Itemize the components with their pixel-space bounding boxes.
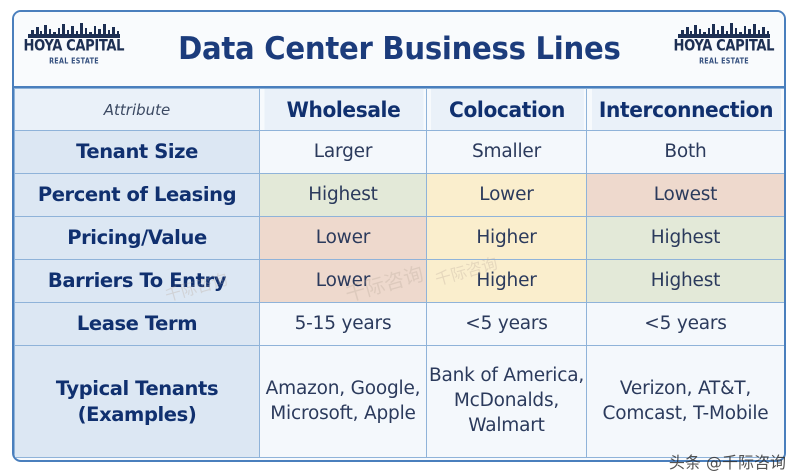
row-label-line-2: (Examples) — [15, 402, 259, 428]
brand-logo-right: HOYA CAPITAL REAL ESTATE — [672, 22, 776, 80]
comparison-table: Attribute Wholesale Colocation Interconn… — [14, 88, 785, 458]
source-watermark: 头条 @千际咨询 — [669, 449, 786, 473]
title-band: HOYA CAPITAL REAL ESTATE Data Center Bus… — [14, 12, 784, 88]
row-label-barriers-to-entry: Barriers To Entry — [15, 260, 260, 303]
table-row: Pricing/Value Lower Higher Highest — [15, 217, 785, 260]
cell-tenant-size-wholesale: Larger — [260, 131, 427, 174]
brand-logo-left: HOYA CAPITAL REAL ESTATE — [22, 22, 126, 80]
table-row: Typical Tenants (Examples) Amazon, Googl… — [15, 346, 785, 458]
cell-percent-of-leasing-wholesale: Highest — [260, 174, 427, 217]
tenant-line: Bank of America, — [427, 364, 586, 389]
cell-barriers-to-entry-colocation: Higher — [427, 260, 587, 303]
table-row: Percent of Leasing Highest Lower Lowest — [15, 174, 785, 217]
tenant-line: Comcast, T-Mobile — [587, 402, 784, 427]
brand-subtitle: REAL ESTATE — [49, 56, 99, 66]
tenant-line: McDonalds, — [427, 389, 586, 414]
tenant-line: Microsoft, Apple — [260, 402, 426, 427]
brand-name: HOYA CAPITAL — [674, 39, 775, 55]
row-label-percent-of-leasing: Percent of Leasing — [15, 174, 260, 217]
table-row: Lease Term 5-15 years <5 years <5 years — [15, 303, 785, 346]
cell-tenant-size-colocation: Smaller — [427, 131, 587, 174]
table-body: Tenant Size Larger Smaller Both Percent … — [15, 131, 785, 458]
row-label-lease-term: Lease Term — [15, 303, 260, 346]
row-label-tenant-size: Tenant Size — [15, 131, 260, 174]
row-label-pricing-value: Pricing/Value — [15, 217, 260, 260]
cell-typical-tenants-colocation: Bank of America, McDonalds, Walmart — [427, 346, 587, 458]
tenant-line: Walmart — [427, 414, 586, 439]
cell-lease-term-colocation: <5 years — [427, 303, 587, 346]
table-row: Barriers To Entry Lower Higher Highest — [15, 260, 785, 303]
row-label-line-1: Typical Tenants — [15, 376, 259, 402]
cell-tenant-size-interconnection: Both — [587, 131, 785, 174]
column-header-wholesale: Wholesale — [263, 89, 423, 131]
tenant-line: Amazon, Google, — [260, 377, 426, 402]
row-label-typical-tenants: Typical Tenants (Examples) — [15, 346, 260, 458]
cell-lease-term-interconnection: <5 years — [587, 303, 785, 346]
cell-pricing-value-wholesale: Lower — [260, 217, 427, 260]
column-header-attribute: Attribute — [15, 89, 260, 131]
page-title: Data Center Business Lines — [178, 31, 620, 67]
cell-barriers-to-entry-interconnection: Highest — [587, 260, 785, 303]
table-row: Tenant Size Larger Smaller Both — [15, 131, 785, 174]
table-header-row: Attribute Wholesale Colocation Interconn… — [15, 89, 785, 131]
tenant-line: Verizon, AT&T, — [587, 377, 784, 402]
cell-pricing-value-colocation: Higher — [427, 217, 587, 260]
column-header-colocation: Colocation — [430, 89, 584, 131]
brand-subtitle: REAL ESTATE — [699, 56, 749, 66]
chart-frame: HOYA CAPITAL REAL ESTATE Data Center Bus… — [12, 10, 786, 462]
column-header-interconnection: Interconnection — [590, 89, 780, 131]
cell-barriers-to-entry-wholesale: Lower — [260, 260, 427, 303]
cell-typical-tenants-wholesale: Amazon, Google, Microsoft, Apple — [260, 346, 427, 458]
brand-name: HOYA CAPITAL — [24, 39, 125, 55]
cell-percent-of-leasing-colocation: Lower — [427, 174, 587, 217]
cell-pricing-value-interconnection: Highest — [587, 217, 785, 260]
cell-typical-tenants-interconnection: Verizon, AT&T, Comcast, T-Mobile — [587, 346, 785, 458]
cell-lease-term-wholesale: 5-15 years — [260, 303, 427, 346]
infographic-page: HOYA CAPITAL REAL ESTATE Data Center Bus… — [0, 0, 800, 475]
cell-percent-of-leasing-interconnection: Lowest — [587, 174, 785, 217]
